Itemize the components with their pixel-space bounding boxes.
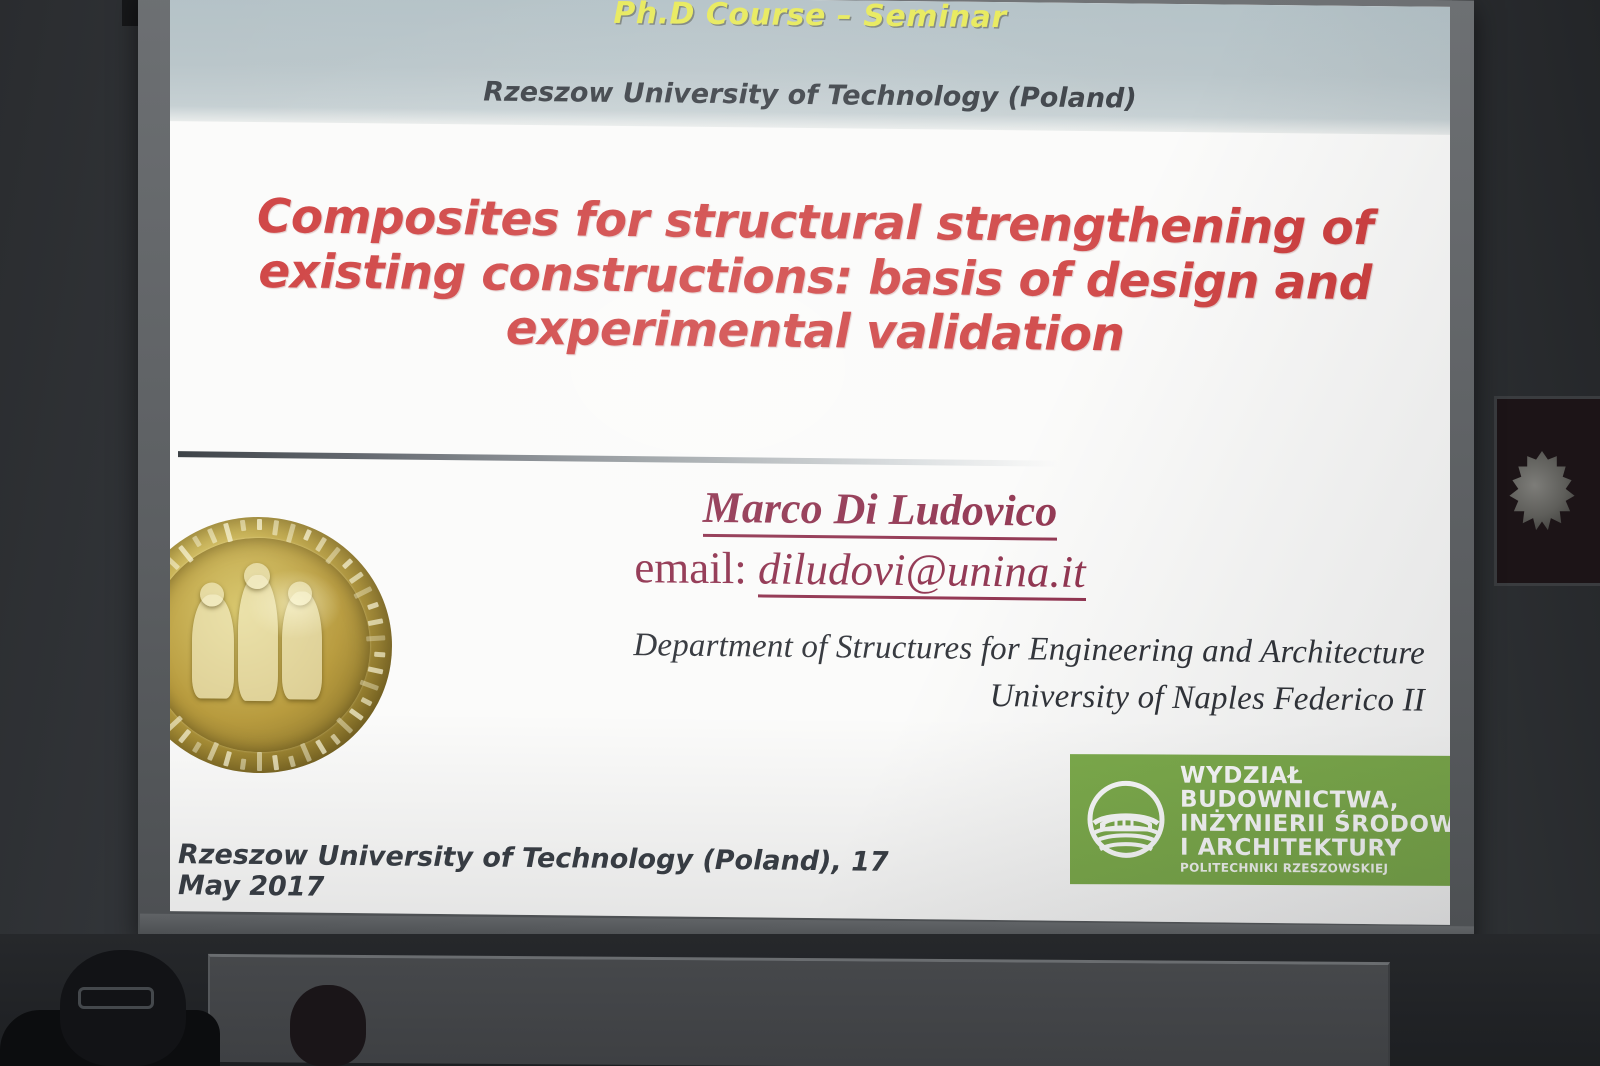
whiteboard-panel <box>208 954 1390 1066</box>
audience-person-2-head <box>290 985 366 1066</box>
slide-main-title: Composites for structural strengthening … <box>230 190 1400 366</box>
university-seal-image <box>170 516 392 775</box>
faculty-logo-line-4: I ARCHITEKTURY <box>1180 836 1450 861</box>
slide-header-band: Ph.D Course – Seminar Rzeszow University… <box>170 0 1450 135</box>
lecture-room-scene: Ph.D Course – Seminar Rzeszow University… <box>0 0 1600 1066</box>
bridge-landscape-circle-icon <box>1082 775 1170 863</box>
slide-footer: Rzeszow University of Technology (Poland… <box>170 839 930 909</box>
email-label: email: <box>634 542 746 593</box>
audience-person-1-glasses <box>78 987 154 1009</box>
affiliation-block: Department of Structures for Engineering… <box>360 619 1425 724</box>
wall-left <box>0 0 152 1066</box>
author-name-line: Marco Di Ludovico <box>430 479 1330 540</box>
title-divider-rule <box>178 451 1058 467</box>
faculty-logo-subline: POLITECHNIKI RZESZOWSKIEJ <box>1180 862 1450 876</box>
faculty-logo-text: WYDZIAŁ BUDOWNICTWA, INŻYNIERII ŚRODOWIS… <box>1180 765 1450 876</box>
eagle-emblem-icon <box>1505 451 1579 537</box>
faculty-logo: WYDZIAŁ BUDOWNICTWA, INŻYNIERII ŚRODOWIS… <box>1070 754 1450 886</box>
seal-highlight <box>246 569 342 640</box>
framed-eagle-emblem <box>1494 396 1600 586</box>
author-email-line: email: diludovi@unina.it <box>400 539 1320 601</box>
host-university: Rzeszow University of Technology (Poland… <box>170 73 1450 118</box>
ceiling-notch-left <box>122 0 138 26</box>
author-name: Marco Di Ludovico <box>703 483 1057 541</box>
course-title: Ph.D Course – Seminar <box>170 0 1450 40</box>
email-address[interactable]: diludovi@unina.it <box>758 543 1086 601</box>
presentation-slide: Ph.D Course – Seminar Rzeszow University… <box>170 0 1450 925</box>
